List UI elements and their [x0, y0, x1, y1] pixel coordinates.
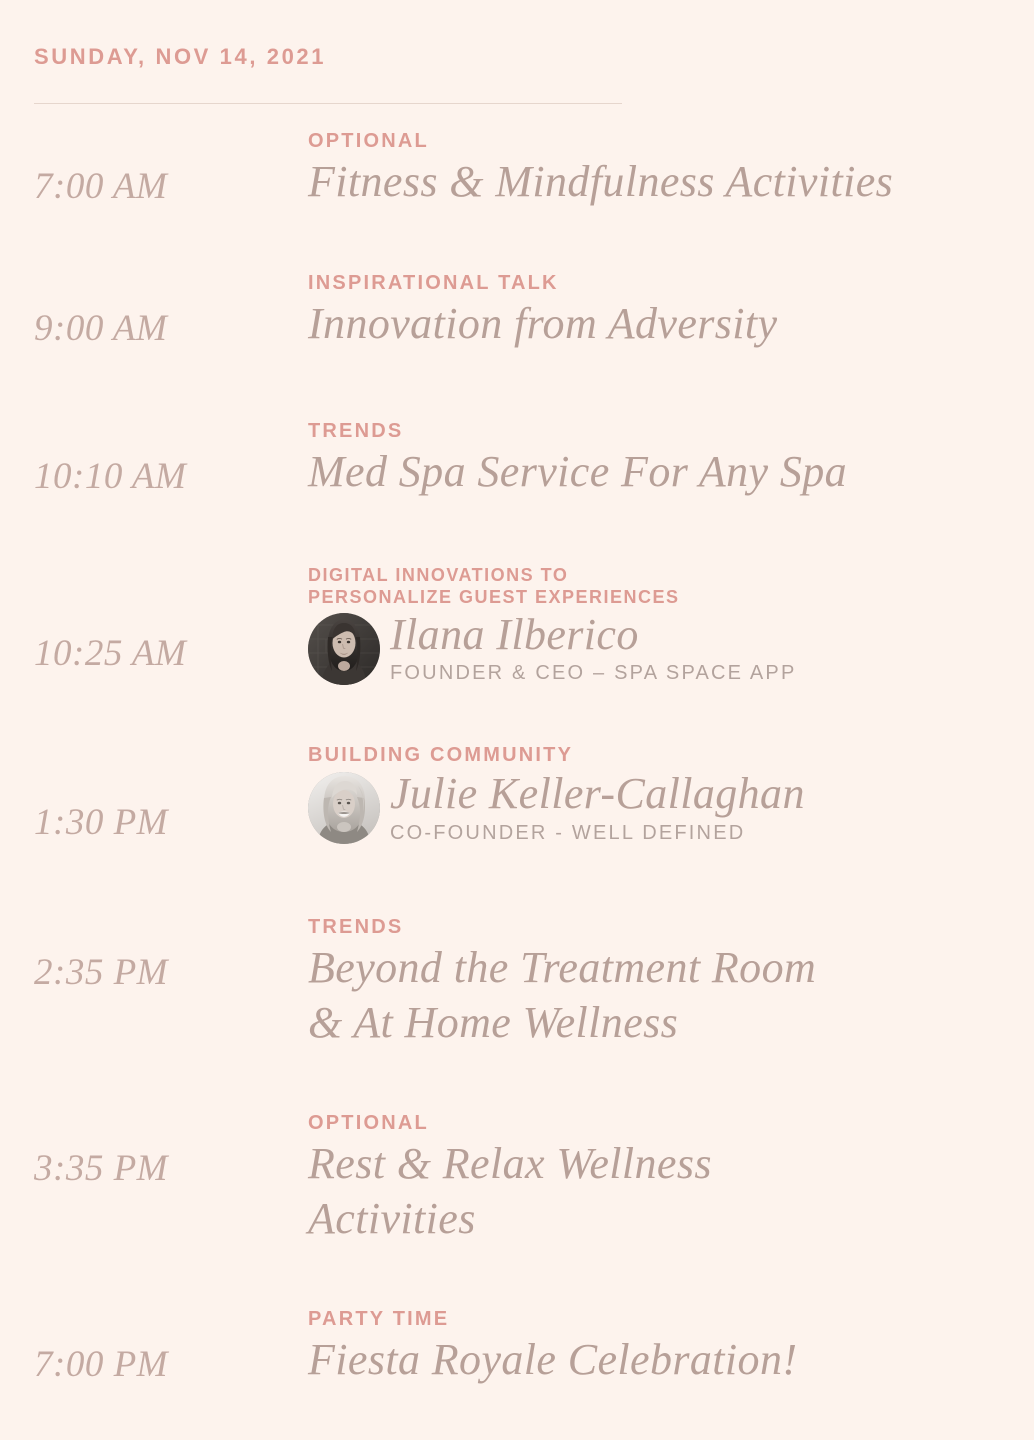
- row-title: Beyond the Treatment Room & At Home Well…: [308, 940, 1004, 1050]
- row-title: Rest & Relax Wellness Activities: [308, 1136, 1004, 1246]
- row-category: TRENDS: [308, 914, 1004, 940]
- row-time: 7:00 PM: [34, 1346, 168, 1383]
- row-title: Med Spa Service For Any Spa: [308, 444, 1004, 499]
- speaker-role: FOUNDER & CEO – SPA SPACE APP: [390, 660, 797, 686]
- row-title-line-2: & At Home Wellness: [308, 995, 1004, 1050]
- row-time-column: 10:25 AM: [0, 565, 308, 672]
- row-body: PARTY TIME Fiesta Royale Celebration!: [308, 1306, 1034, 1387]
- row-category: INSPIRATIONAL TALK: [308, 270, 1004, 296]
- avatar: [308, 613, 380, 685]
- portrait-photo-icon: [308, 772, 380, 844]
- schedule-row[interactable]: 1:30 PM BUILDING COMMUNITY: [0, 742, 1034, 846]
- row-title-line-1: Beyond the Treatment Room: [308, 940, 1004, 995]
- row-time: 1:30 PM: [34, 804, 168, 841]
- row-body: INSPIRATIONAL TALK Innovation from Adver…: [308, 270, 1034, 351]
- row-title: Fiesta Royale Celebration!: [308, 1332, 1004, 1387]
- row-title-line-2: Activities: [308, 1191, 1004, 1246]
- schedule-row[interactable]: 7:00 AM OPTIONAL Fitness & Mindfulness A…: [0, 128, 1034, 209]
- row-category-line-2: PERSONALIZE GUEST EXPERIENCES: [308, 587, 1004, 609]
- row-category: TRENDS: [308, 418, 1004, 444]
- speaker-text: Julie Keller-Callaghan CO-FOUNDER - WELL…: [390, 770, 805, 846]
- row-body: OPTIONAL Fitness & Mindfulness Activitie…: [308, 128, 1034, 209]
- row-time: 9:00 AM: [34, 310, 167, 347]
- row-category: OPTIONAL: [308, 128, 1004, 154]
- row-category: PARTY TIME: [308, 1306, 1004, 1332]
- avatar: [308, 772, 380, 844]
- row-body: TRENDS Med Spa Service For Any Spa: [308, 418, 1034, 499]
- schedule-row[interactable]: 10:10 AM TRENDS Med Spa Service For Any …: [0, 418, 1034, 499]
- speaker-role: CO-FOUNDER - WELL DEFINED: [390, 820, 805, 846]
- header-divider: [34, 103, 622, 104]
- row-category: BUILDING COMMUNITY: [308, 742, 1004, 768]
- row-body: TRENDS Beyond the Treatment Room & At Ho…: [308, 914, 1034, 1050]
- row-time: 10:25 AM: [34, 635, 186, 672]
- row-time-column: 7:00 AM: [0, 128, 308, 205]
- speaker-name: Julie Keller-Callaghan: [390, 770, 805, 818]
- row-title: Fitness & Mindfulness Activities: [308, 154, 1004, 209]
- row-body: BUILDING COMMUNITY: [308, 742, 1034, 846]
- row-body: DIGITAL INNOVATIONS TO PERSONALIZE GUEST…: [308, 565, 1034, 686]
- schedule-date: SUNDAY, NOV 14, 2021: [34, 44, 634, 70]
- row-category: OPTIONAL: [308, 1110, 1004, 1136]
- row-body: OPTIONAL Rest & Relax Wellness Activitie…: [308, 1110, 1034, 1246]
- row-category: DIGITAL INNOVATIONS TO PERSONALIZE GUEST…: [308, 565, 1004, 609]
- schedule-page: SUNDAY, NOV 14, 2021 7:00 AM OPTIONAL Fi…: [0, 0, 1034, 1440]
- schedule-row[interactable]: 3:35 PM OPTIONAL Rest & Relax Wellness A…: [0, 1110, 1034, 1246]
- row-time-column: 3:35 PM: [0, 1110, 308, 1187]
- schedule-row[interactable]: 7:00 PM PARTY TIME Fiesta Royale Celebra…: [0, 1306, 1034, 1387]
- row-title: Innovation from Adversity: [308, 296, 1004, 351]
- row-category-line-1: DIGITAL INNOVATIONS TO: [308, 565, 1004, 587]
- schedule-row[interactable]: 2:35 PM TRENDS Beyond the Treatment Room…: [0, 914, 1034, 1050]
- schedule-row[interactable]: 9:00 AM INSPIRATIONAL TALK Innovation fr…: [0, 270, 1034, 351]
- row-time: 10:10 AM: [34, 458, 186, 495]
- row-time-column: 7:00 PM: [0, 1306, 308, 1383]
- portrait-photo-icon: [308, 613, 380, 685]
- row-time-column: 10:10 AM: [0, 418, 308, 495]
- schedule-row[interactable]: 10:25 AM DIGITAL INNOVATIONS TO PERSONAL…: [0, 565, 1034, 686]
- speaker-name: Ilana Ilberico: [390, 611, 797, 659]
- row-time: 7:00 AM: [34, 168, 167, 205]
- row-time-column: 9:00 AM: [0, 270, 308, 347]
- row-time-column: 2:35 PM: [0, 914, 308, 991]
- row-time-column: 1:30 PM: [0, 742, 308, 841]
- speaker-block: Julie Keller-Callaghan CO-FOUNDER - WELL…: [308, 770, 1004, 846]
- speaker-text: Ilana Ilberico FOUNDER & CEO – SPA SPACE…: [390, 611, 797, 687]
- speaker-block: Ilana Ilberico FOUNDER & CEO – SPA SPACE…: [308, 611, 1004, 687]
- page-header: SUNDAY, NOV 14, 2021: [34, 44, 634, 70]
- row-time: 3:35 PM: [34, 1150, 168, 1187]
- row-title-line-1: Rest & Relax Wellness: [308, 1136, 1004, 1191]
- row-time: 2:35 PM: [34, 954, 168, 991]
